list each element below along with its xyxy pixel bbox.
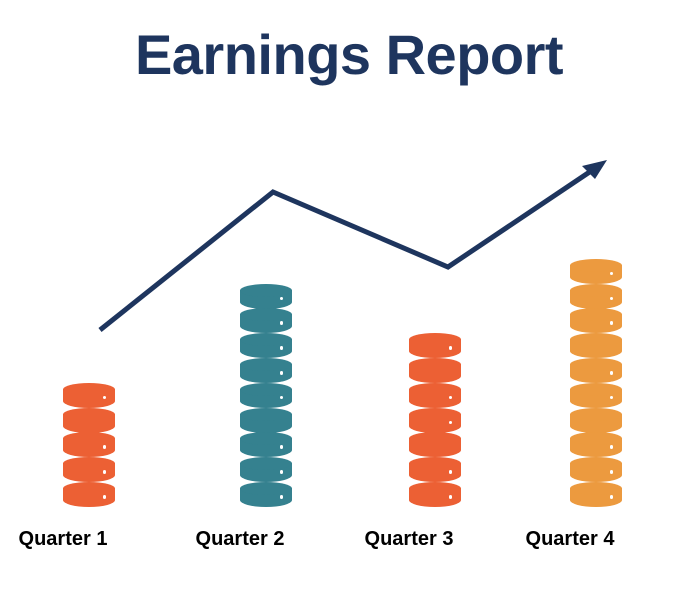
coin <box>570 259 622 284</box>
coin <box>570 358 622 383</box>
coin <box>570 408 622 433</box>
quarter-label-2: Quarter 2 <box>160 528 320 551</box>
coin-top-ellipse <box>63 482 115 495</box>
coin-top-ellipse <box>63 383 115 396</box>
coin <box>570 482 622 507</box>
coin-highlight-dot <box>280 470 284 474</box>
coin <box>570 308 622 333</box>
coin-highlight-dot <box>449 470 453 474</box>
quarter-label-4: Quarter 4 <box>490 528 650 551</box>
coin-top-ellipse <box>409 383 461 396</box>
stack-coins <box>409 333 461 507</box>
coin-highlight-dot <box>280 321 284 325</box>
coin-top-ellipse <box>570 284 622 297</box>
coin-top-ellipse <box>570 259 622 272</box>
coin-highlight-dot <box>280 346 284 350</box>
stack-coins <box>570 259 622 507</box>
stack-quarter-3 <box>409 333 461 507</box>
coin-top-ellipse <box>240 482 292 495</box>
coin <box>409 383 461 408</box>
coin-highlight-dot <box>280 445 284 449</box>
coin <box>570 457 622 482</box>
coin <box>409 408 461 433</box>
coin-highlight-dot <box>610 495 614 499</box>
coin-highlight-dot <box>103 445 107 449</box>
coin-highlight-dot <box>610 470 614 474</box>
coin-top-ellipse <box>240 383 292 396</box>
coin <box>409 457 461 482</box>
coin-highlight-dot <box>449 495 453 499</box>
coin <box>570 333 622 358</box>
coin <box>240 333 292 358</box>
coin-top-ellipse <box>240 284 292 297</box>
coin <box>570 383 622 408</box>
stack-quarter-1 <box>63 383 115 507</box>
coin <box>409 432 461 457</box>
coin <box>63 408 115 433</box>
coin-highlight-dot <box>280 371 284 375</box>
stack-quarter-2 <box>240 284 292 507</box>
coin-top-ellipse <box>570 408 622 421</box>
coin-highlight-dot <box>280 297 284 301</box>
coin-top-ellipse <box>409 482 461 495</box>
coin <box>63 432 115 457</box>
stack-coins <box>63 383 115 507</box>
quarter-label-1: Quarter 1 <box>0 528 143 551</box>
coin <box>240 457 292 482</box>
coin <box>63 383 115 408</box>
coin-top-ellipse <box>240 408 292 421</box>
coin <box>240 284 292 309</box>
coin <box>240 308 292 333</box>
coin-highlight-dot <box>610 321 614 325</box>
coin <box>570 284 622 309</box>
coin <box>240 383 292 408</box>
coin-top-ellipse <box>409 408 461 421</box>
stack-quarter-4 <box>570 259 622 507</box>
coin-highlight-dot <box>449 346 453 350</box>
coin <box>240 432 292 457</box>
coin <box>240 482 292 507</box>
coin-highlight-dot <box>103 495 107 499</box>
coin <box>240 408 292 433</box>
stack-coins <box>240 284 292 507</box>
quarter-label-3: Quarter 3 <box>329 528 489 551</box>
coin <box>409 358 461 383</box>
coin-top-ellipse <box>570 482 622 495</box>
coin <box>63 482 115 507</box>
coin-top-ellipse <box>63 408 115 421</box>
coin-top-ellipse <box>570 358 622 371</box>
coin-highlight-dot <box>610 445 614 449</box>
coin <box>570 432 622 457</box>
coin-highlight-dot <box>610 297 614 301</box>
coin-stacks-group: Quarter 1Quarter 2Quarter 3Quarter 4 <box>0 0 698 604</box>
coin <box>409 482 461 507</box>
coin-highlight-dot <box>610 371 614 375</box>
coin-highlight-dot <box>103 470 107 474</box>
coin-highlight-dot <box>280 495 284 499</box>
coin-highlight-dot <box>449 421 453 425</box>
coin <box>63 457 115 482</box>
coin <box>240 358 292 383</box>
coin <box>409 333 461 358</box>
coin-top-ellipse <box>240 358 292 371</box>
coin-top-ellipse <box>409 358 461 371</box>
infographic-canvas: Earnings Report Quarter 1Quarter 2Quarte… <box>0 0 698 604</box>
coin-top-ellipse <box>570 383 622 396</box>
